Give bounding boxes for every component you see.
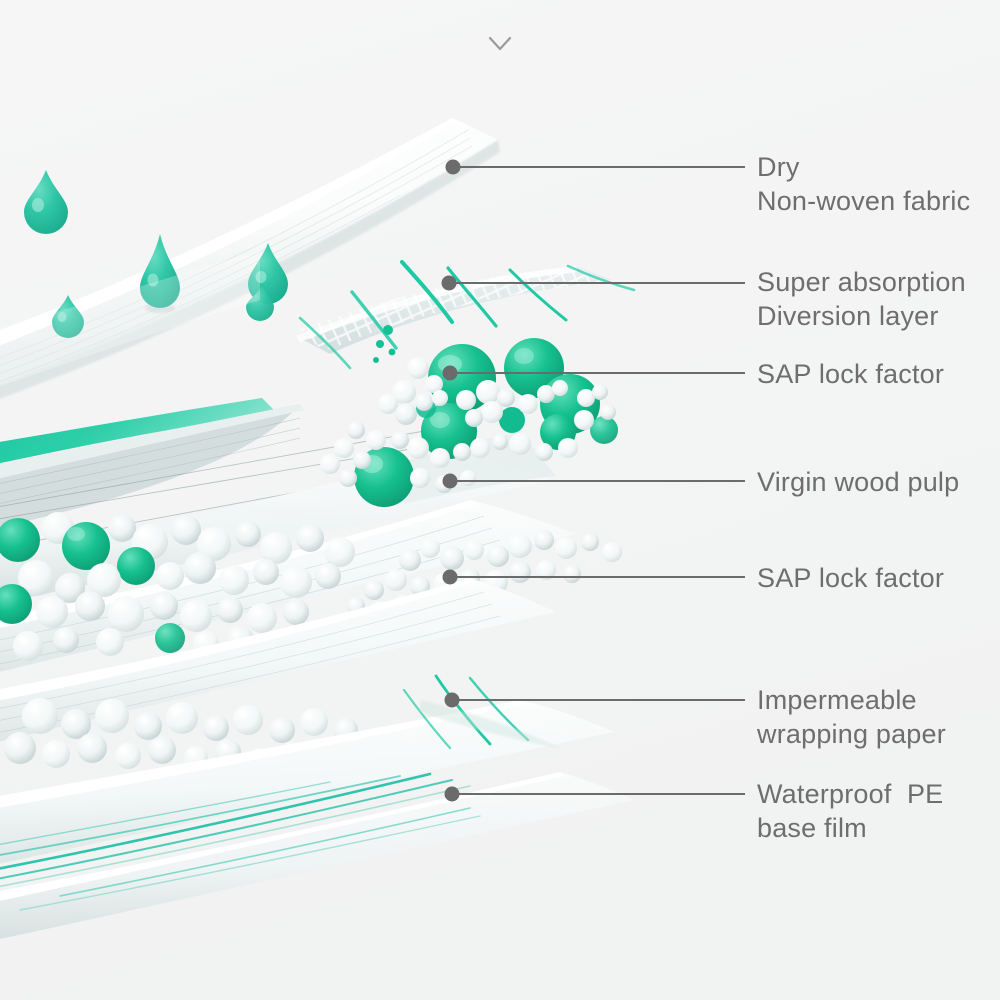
callout-label-line1: Waterproof PE: [757, 777, 943, 811]
callout-leader-line-super-absorption-diversion-layer: [449, 282, 745, 284]
callout-leader-line-virgin-wood-pulp: [450, 480, 745, 482]
callout-label-line2: wrapping paper: [757, 717, 946, 751]
callout-leader-line-sap-lock-factor-lower: [450, 576, 745, 578]
callout-label-super-absorption-diversion-layer: Super absorptionDiversion layer: [757, 265, 966, 333]
callout-label-line1: SAP lock factor: [757, 357, 944, 391]
infographic-root: DryNon-woven fabricSuper absorptionDiver…: [0, 0, 1000, 1000]
callout-label-impermeable-wrapping-paper: Impermeablewrapping paper: [757, 683, 946, 751]
callout-label-virgin-wood-pulp: Virgin wood pulp: [757, 465, 959, 499]
callout-label-waterproof-pe-base-film: Waterproof PEbase film: [757, 777, 943, 845]
callout-label-line1: Virgin wood pulp: [757, 465, 959, 499]
callout-label-line1: Impermeable: [757, 683, 946, 717]
callout-label-line1: Dry: [757, 150, 970, 184]
callout-label-line2: Non-woven fabric: [757, 184, 970, 218]
callout-label-sap-lock-factor-lower: SAP lock factor: [757, 561, 944, 595]
callout-label-dry-non-woven-fabric: DryNon-woven fabric: [757, 150, 970, 218]
chevron-down-icon[interactable]: [484, 30, 516, 58]
callout-label-line2: base film: [757, 811, 943, 845]
callout-label-line1: Super absorption: [757, 265, 966, 299]
callout-label-line2: Diversion layer: [757, 299, 966, 333]
callout-leader-line-waterproof-pe-base-film: [452, 793, 745, 795]
callout-leader-line-dry-non-woven-fabric: [453, 166, 745, 168]
callout-label-line1: SAP lock factor: [757, 561, 944, 595]
callout-leader-line-impermeable-wrapping-paper: [452, 699, 745, 701]
callout-leader-line-sap-lock-factor-upper: [450, 372, 745, 374]
callout-label-sap-lock-factor-upper: SAP lock factor: [757, 357, 944, 391]
